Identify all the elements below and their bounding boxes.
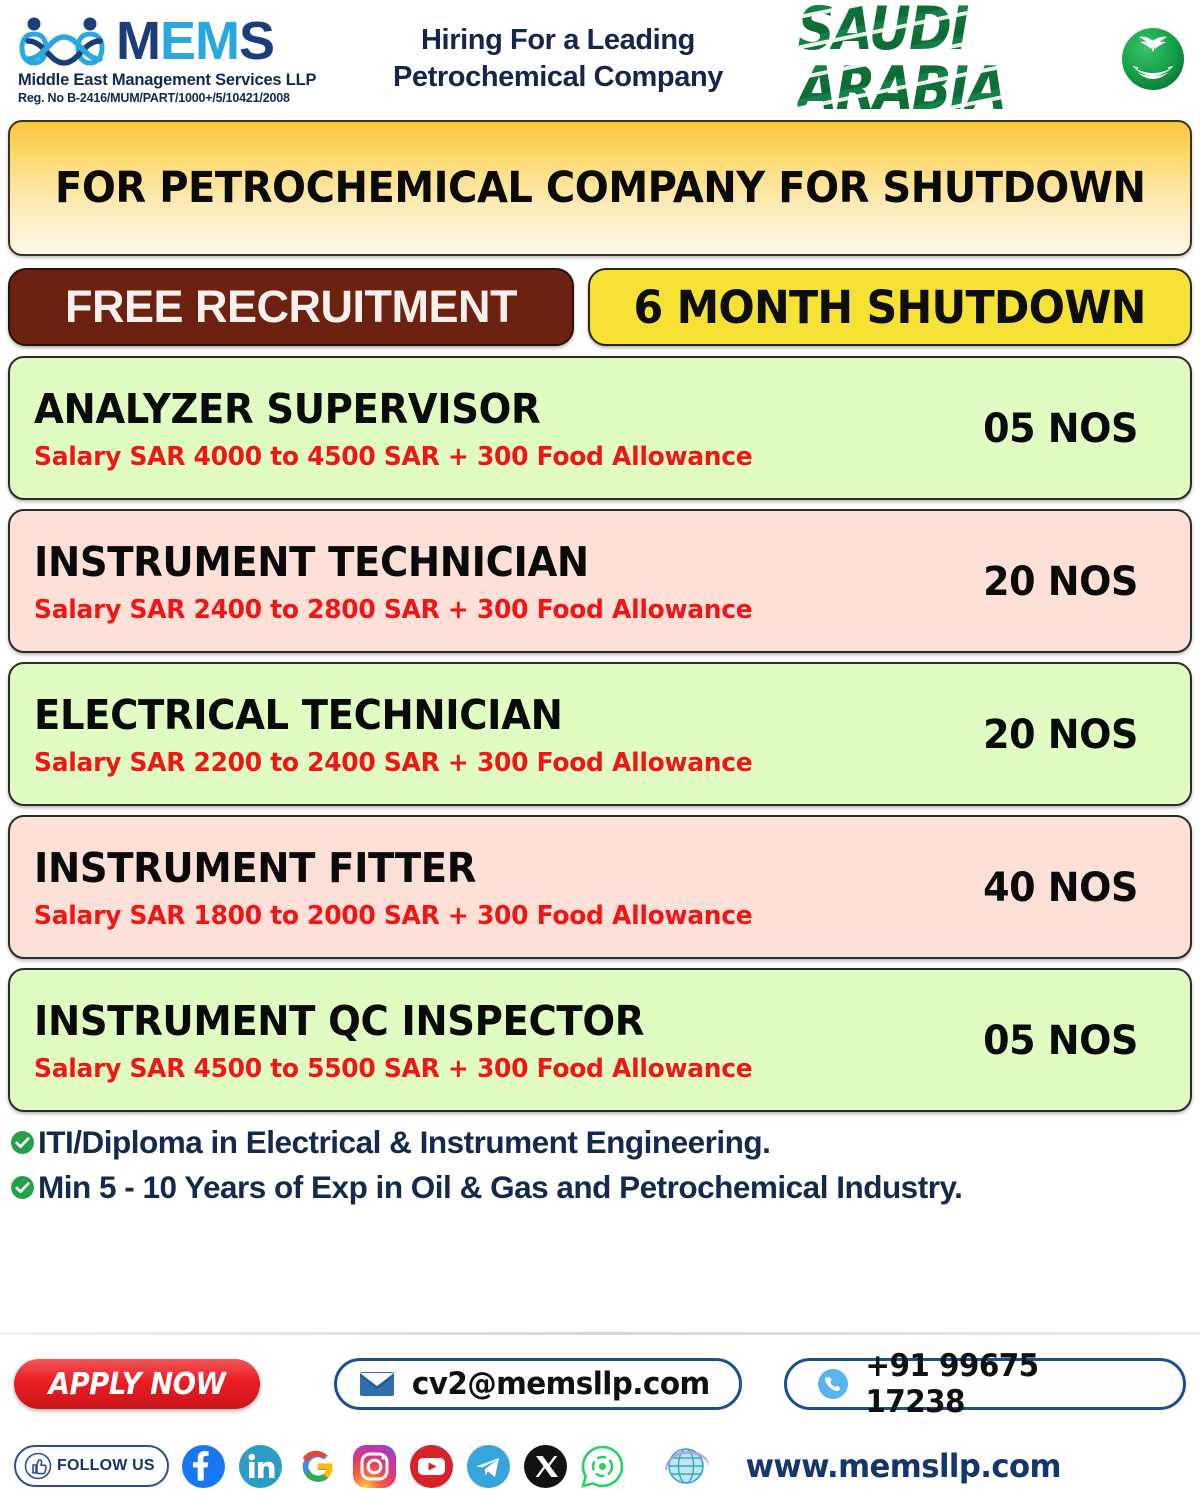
footer-divider [0,1332,1200,1335]
check-circle-icon [10,1175,35,1200]
saudi-arabia-emblem-icon [1120,26,1186,92]
job-vacancy-count: 20 NOS [958,712,1162,758]
whatsapp-icon[interactable] [580,1444,625,1489]
email-address: cv2@memsllp.com [412,1366,710,1402]
social-bar: FOLLOW US [0,1432,1200,1500]
job-list: ANALYZER SUPERVISOR Salary SAR 4000 to 4… [8,356,1192,1112]
job-title: INSTRUMENT FITTER [34,848,898,889]
facebook-icon[interactable] [181,1444,226,1489]
phone-number: +91 99675 17238 [866,1348,1146,1420]
youtube-icon[interactable] [409,1444,454,1489]
apply-now-button[interactable]: APPLY NOW [14,1359,260,1409]
job-info: INSTRUMENT FITTER Salary SAR 1800 to 200… [34,848,953,929]
country-block: SAUDI ARABIA [746,0,1186,119]
job-info: INSTRUMENT TECHNICIAN Salary SAR 2400 to… [34,542,953,623]
telegram-icon[interactable] [466,1444,511,1489]
job-row: INSTRUMENT TECHNICIAN Salary SAR 2400 to… [8,509,1192,653]
job-vacancy-count: 20 NOS [958,559,1162,605]
phone-pill[interactable]: +91 99675 17238 [784,1358,1186,1410]
brand-wordmark: MEMS [116,14,274,68]
mail-icon [359,1371,395,1397]
main-title-banner: FOR PETROCHEMICAL COMPANY FOR SHUTDOWN [8,120,1192,256]
linkedin-icon[interactable] [238,1444,283,1489]
job-info: ANALYZER SUPERVISOR Salary SAR 4000 to 4… [34,389,953,470]
phone-icon [817,1368,849,1400]
job-salary: Salary SAR 1800 to 2000 SAR + 300 Food A… [34,903,916,929]
company-full-name: Middle East Management Services LLP [18,71,370,90]
job-title: ANALYZER SUPERVISOR [34,389,898,430]
globe-icon [659,1440,715,1492]
job-salary: Salary SAR 4000 to 4500 SAR + 300 Food A… [34,444,916,470]
brand-word-1: M [116,11,160,71]
recruitment-poster: MEMS Middle East Management Services LLP… [0,0,1200,1500]
google-icon[interactable] [295,1444,340,1489]
poster-header: MEMS Middle East Management Services LLP… [0,0,1200,118]
hiring-line-1: Hiring For a Leading [380,22,736,59]
badge-row: FREE RECRUITMENT 6 MONTH SHUTDOWN [8,268,1192,346]
job-title: INSTRUMENT QC INSPECTOR [34,1001,898,1042]
website-url[interactable]: www.memsllp.com [745,1447,1060,1485]
job-vacancy-count: 05 NOS [958,1018,1162,1064]
contact-bar: APPLY NOW cv2@memsllp.com +91 99675 1723… [0,1348,1200,1420]
follow-us-pill[interactable]: FOLLOW US [14,1445,169,1487]
shutdown-duration-badge: 6 MONTH SHUTDOWN [588,268,1192,346]
requirement-text: ITI/Diploma in Electrical & Instrument E… [38,1126,770,1159]
brand-logo-row: MEMS [18,14,370,68]
follow-us-label: FOLLOW US [57,1457,155,1475]
job-row: ELECTRICAL TECHNICIAN Salary SAR 2200 to… [8,662,1192,806]
job-title: INSTRUMENT TECHNICIAN [34,542,898,583]
country-name: SAUDI ARABIA [798,0,1114,119]
requirement-item: Min 5 - 10 Years of Exp in Oil & Gas and… [10,1171,1192,1204]
job-salary: Salary SAR 4500 to 5500 SAR + 300 Food A… [34,1056,916,1082]
requirements-list: ITI/Diploma in Electrical & Instrument E… [10,1126,1192,1204]
job-row: ANALYZER SUPERVISOR Salary SAR 4000 to 4… [8,356,1192,500]
free-recruitment-label: FREE RECRUITMENT [65,281,517,333]
brand-word-3: S [239,11,274,71]
job-info: INSTRUMENT QC INSPECTOR Salary SAR 4500 … [34,1001,953,1082]
job-salary: Salary SAR 2400 to 2800 SAR + 300 Food A… [34,597,916,623]
job-vacancy-count: 05 NOS [958,406,1162,452]
job-salary: Salary SAR 2200 to 2400 SAR + 300 Food A… [34,750,916,776]
company-registration: Reg. No B-2416/MUM/PART/1000+/5/10421/20… [18,91,370,105]
page-title: FOR PETROCHEMICAL COMPANY FOR SHUTDOWN [55,163,1145,214]
thumbs-up-icon [24,1452,52,1480]
brand-block: MEMS Middle East Management Services LLP… [18,14,370,105]
check-circle-icon [10,1130,35,1155]
shutdown-duration-label: 6 MONTH SHUTDOWN [634,281,1146,334]
requirement-text: Min 5 - 10 Years of Exp in Oil & Gas and… [38,1171,962,1204]
job-row: INSTRUMENT FITTER Salary SAR 1800 to 200… [8,815,1192,959]
hiring-line-2: Petrochemical Company [380,59,736,96]
apply-now-label: APPLY NOW [49,1367,226,1402]
email-pill[interactable]: cv2@memsllp.com [334,1358,742,1410]
job-info: ELECTRICAL TECHNICIAN Salary SAR 2200 to… [34,695,953,776]
free-recruitment-badge: FREE RECRUITMENT [8,268,574,346]
job-title: ELECTRICAL TECHNICIAN [34,695,898,736]
x-twitter-icon[interactable] [523,1444,568,1489]
requirement-item: ITI/Diploma in Electrical & Instrument E… [10,1126,1192,1159]
hiring-headline: Hiring For a Leading Petrochemical Compa… [380,22,736,96]
job-vacancy-count: 40 NOS [958,865,1162,911]
job-row: INSTRUMENT QC INSPECTOR Salary SAR 4500 … [8,968,1192,1112]
mems-logo-icon [18,15,110,67]
instagram-icon[interactable] [352,1444,397,1489]
brand-word-2: EM [160,11,239,71]
